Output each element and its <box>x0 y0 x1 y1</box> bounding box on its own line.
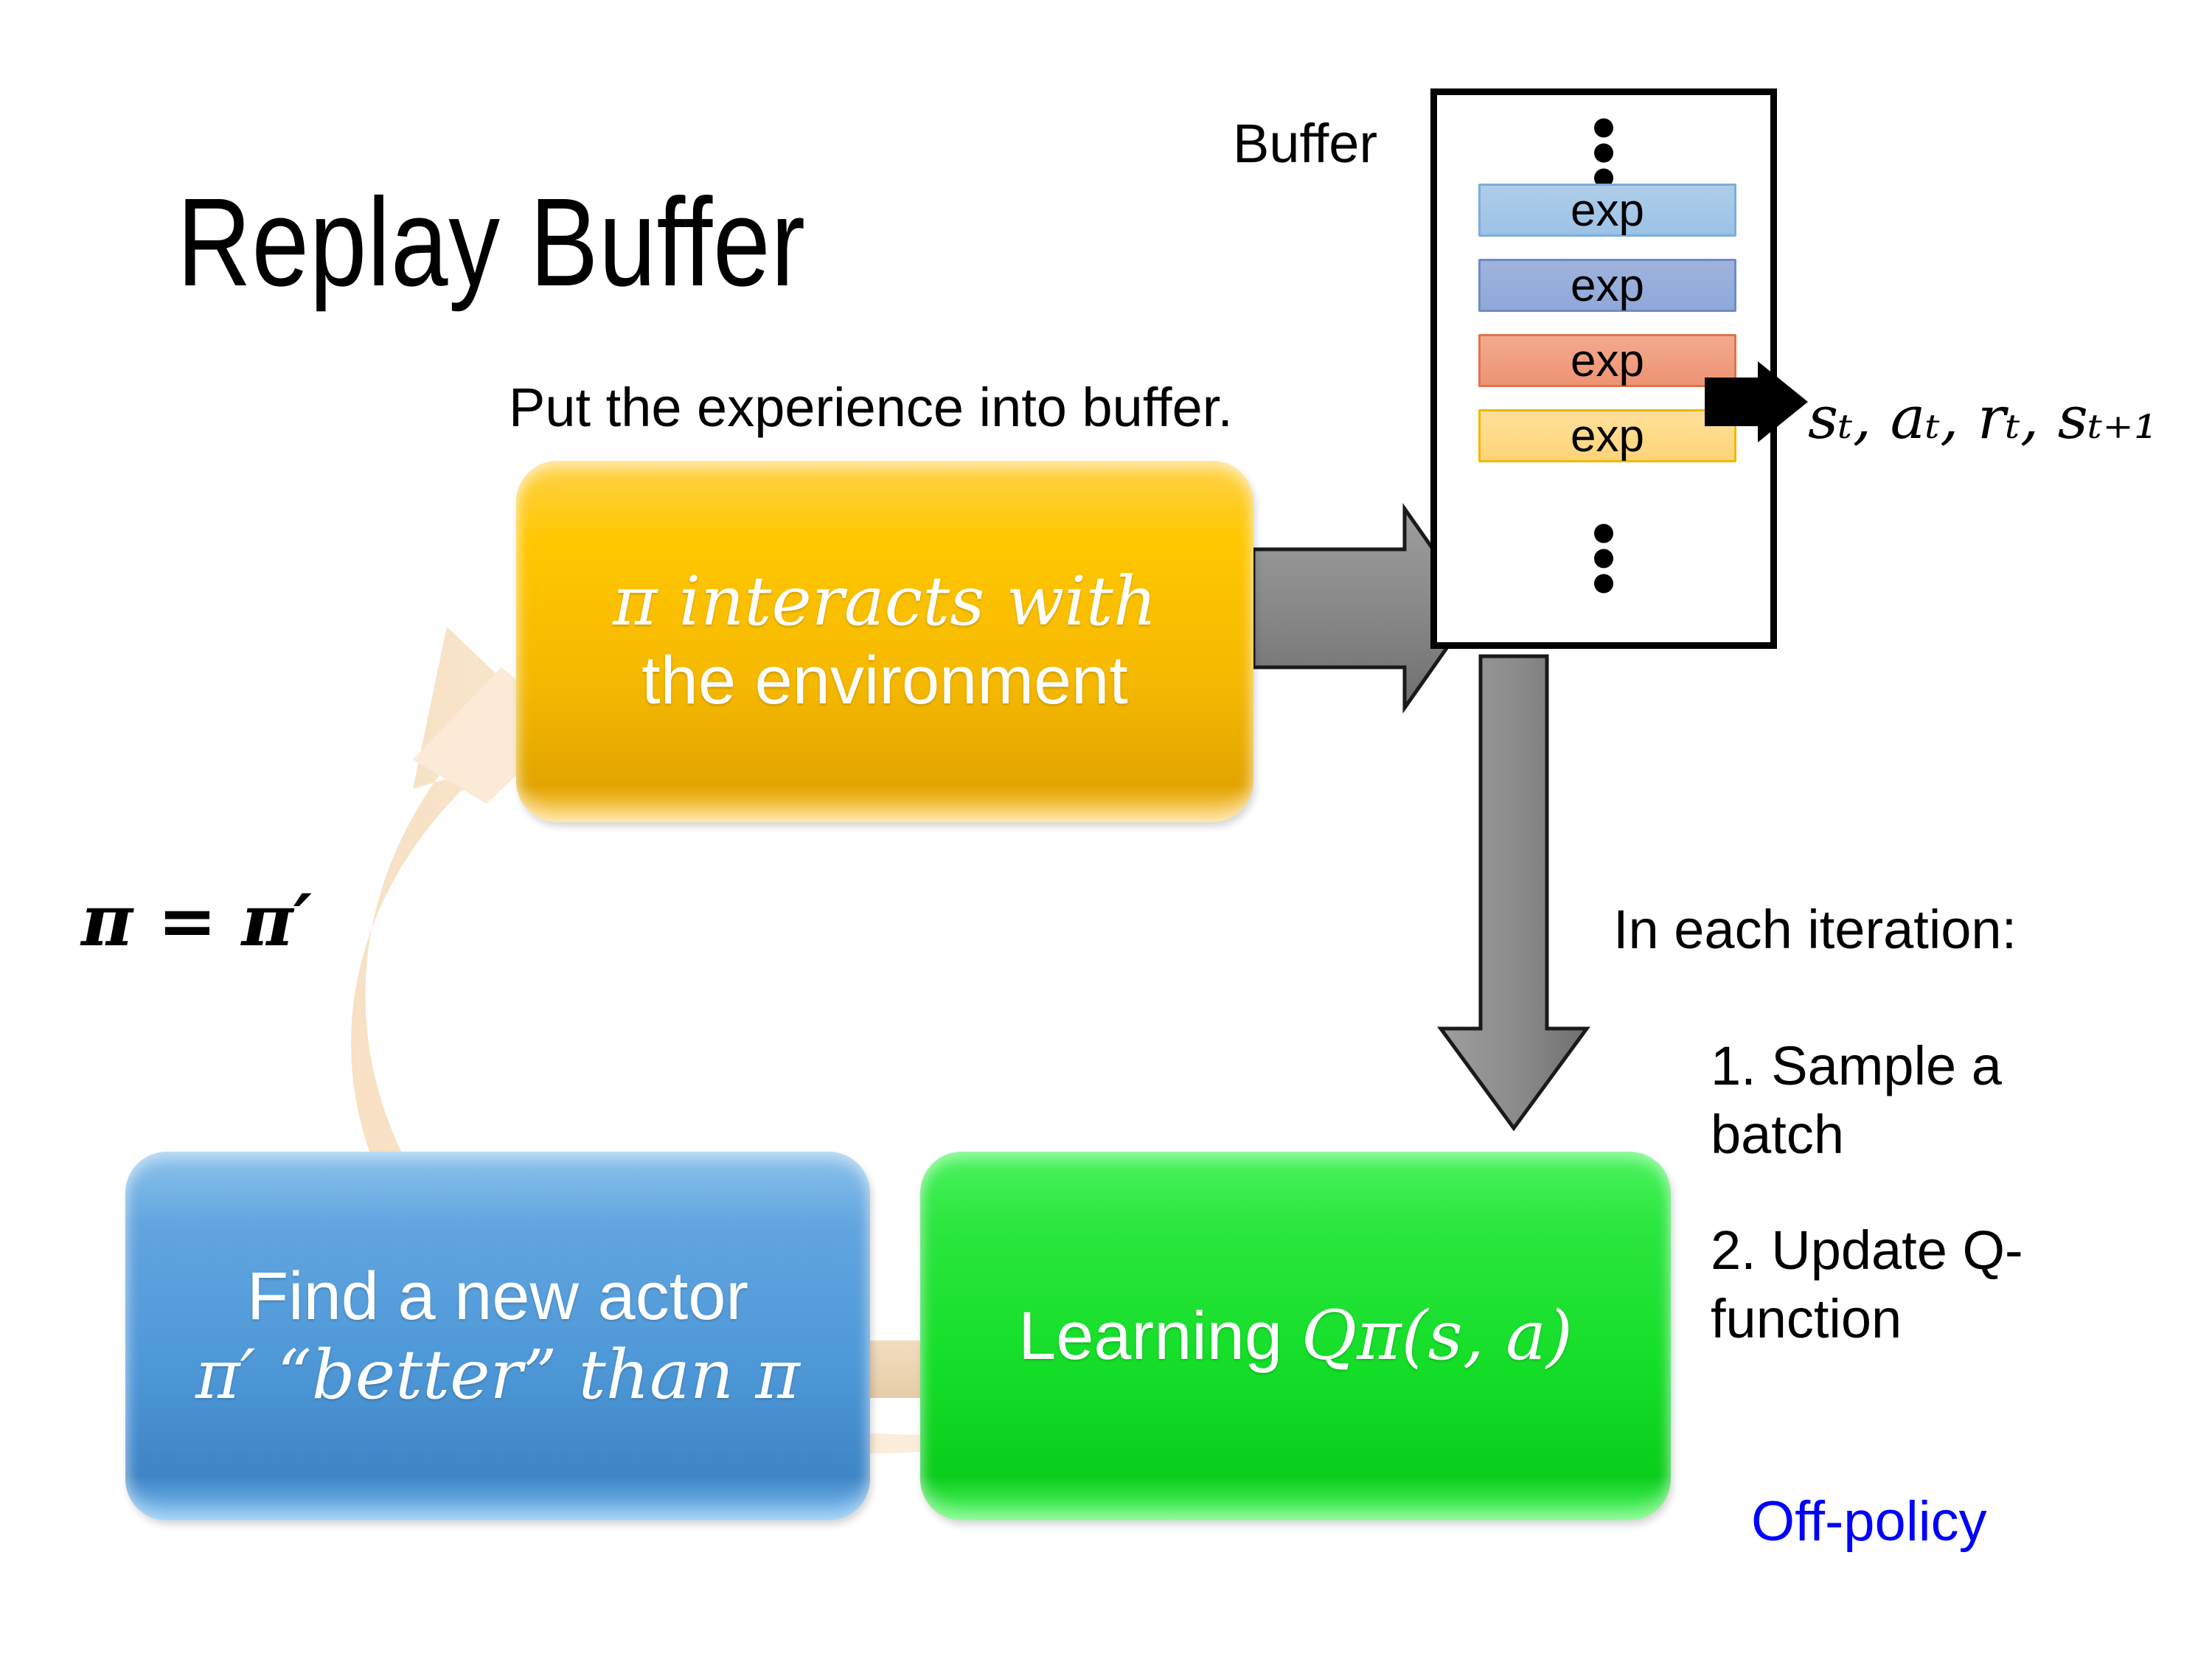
buffer-item[interactable]: exp <box>1478 259 1736 312</box>
transition-tuple-text: sₜ, aₜ, rₜ, sₜ₊₁ <box>1808 383 2157 452</box>
box-yellow-line1: π interacts with <box>613 562 1157 641</box>
buffer-item[interactable]: exp <box>1478 334 1736 387</box>
box-blue-line2-pre: π′ “better” than <box>195 1335 755 1414</box>
transition-tuple-label: sₜ, aₜ, rₜ, sₜ₊₁ <box>1808 383 2157 452</box>
box-policy-interacts-text: π interacts with the environment <box>592 563 1178 720</box>
caption-step-1: 1. Sample a batch <box>1711 1032 2028 1169</box>
buffer-item-label: exp <box>1571 260 1644 312</box>
vertical-dots-top-icon: ••• <box>1437 117 1770 192</box>
box-learning-q[interactable]: Learning Qπ(s, a) <box>920 1152 1671 1520</box>
caption-buffer-label: Buffer <box>1233 112 1377 175</box>
buffer-item-label: exp <box>1571 184 1644 237</box>
box-find-new-actor[interactable]: Find a new actor π′ “better” than π <box>125 1152 870 1520</box>
caption-put-experience: Put the experience into buffer. <box>509 376 1233 439</box>
box-blue-line1: Find a new actor <box>247 1259 748 1334</box>
caption-off-policy: Off-policy <box>1751 1489 1987 1554</box>
buffer-item[interactable]: exp <box>1478 184 1736 237</box>
box-learning-q-text: Learning Qπ(s, a) <box>998 1297 1593 1376</box>
box-yellow-line2: the environment <box>641 643 1128 718</box>
buffer-item-label: exp <box>1571 410 1644 462</box>
buffer-item[interactable]: exp <box>1478 409 1736 462</box>
box-policy-interacts[interactable]: π interacts with the environment <box>516 461 1253 822</box>
vertical-dots-bottom-icon: ••• <box>1437 523 1770 598</box>
buffer-item-label: exp <box>1571 335 1644 387</box>
policy-assignment-text: π = π′ <box>81 879 312 962</box>
page-title: Replay Buffer <box>177 177 806 309</box>
caption-step-2: 2. Update Q-function <box>1711 1217 2050 1353</box>
box-green-text-pre: Learning <box>1018 1298 1301 1374</box>
box-green-text-math: Qπ(s, a) <box>1301 1296 1573 1375</box>
slide-canvas: Replay Buffer <box>0 0 2212 1659</box>
box-blue-line2-post: π <box>755 1335 799 1414</box>
gray-down-arrow <box>1441 656 1587 1128</box>
black-right-arrow-icon <box>1705 361 1808 442</box>
caption-in-each-iteration: In each iteration: <box>1613 898 2017 961</box>
box-find-new-actor-text: Find a new actor π′ “better” than π <box>175 1257 821 1414</box>
policy-assignment-label: π = π′ <box>81 879 312 962</box>
